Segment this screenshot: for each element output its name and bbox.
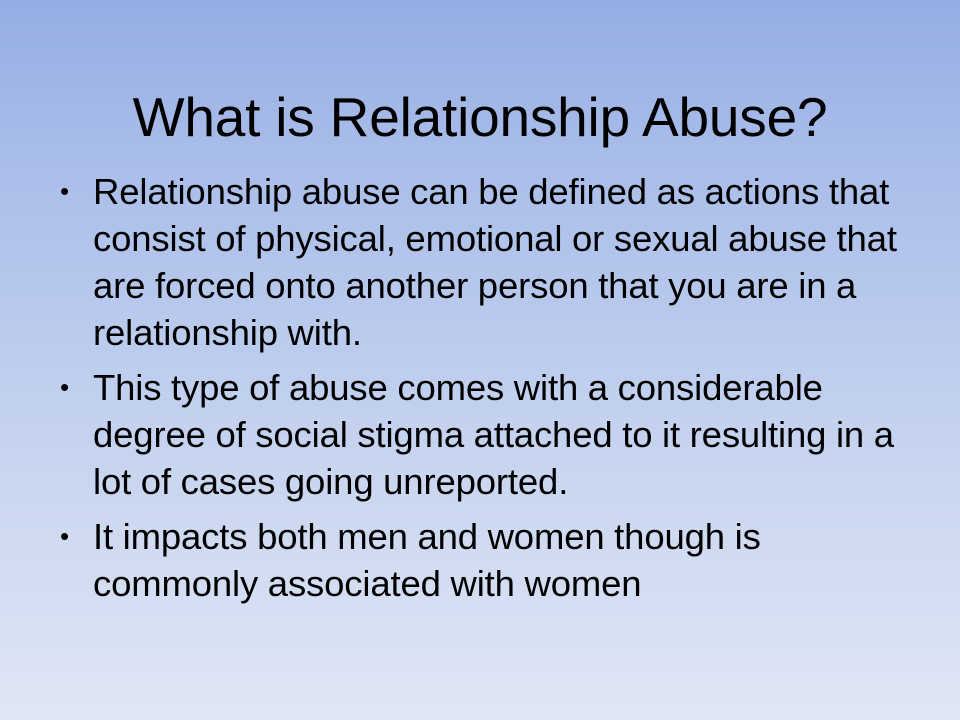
bullet-item-text: It impacts both men and women though is …: [93, 513, 914, 607]
slide-body-bullet-list: • Relationship abuse can be defined as a…: [52, 168, 914, 607]
bullet-item-text: This type of abuse comes with a consider…: [93, 364, 914, 505]
bullet-item: • This type of abuse comes with a consid…: [52, 364, 914, 505]
bullet-point-icon: •: [60, 168, 72, 215]
bullet-item-text: Relationship abuse can be defined as act…: [93, 168, 914, 356]
presentation-slide: What is Relationship Abuse? • Relationsh…: [0, 0, 960, 720]
bullet-item: • Relationship abuse can be defined as a…: [52, 168, 914, 356]
bullet-point-icon: •: [60, 364, 72, 411]
slide-title: What is Relationship Abuse?: [0, 89, 960, 147]
bullet-point-icon: •: [60, 513, 72, 560]
bullet-item: • It impacts both men and women though i…: [52, 513, 914, 607]
